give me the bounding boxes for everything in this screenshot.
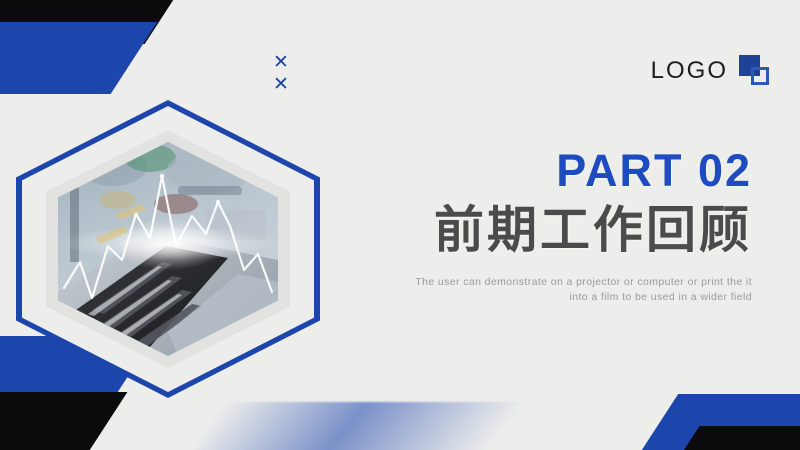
ribbon-top-left-blue xyxy=(0,22,157,94)
logo[interactable]: LOGO xyxy=(651,50,775,92)
hexagon-image-group xyxy=(16,100,320,398)
part-label: PART 02 xyxy=(370,148,752,193)
logo-square-outline xyxy=(751,67,769,85)
presentation-slide: ✕ ✕ LOGO PART 02 前期工作回顾 The user can dem… xyxy=(0,0,800,450)
ribbon-bottom-gradient xyxy=(166,402,526,450)
logo-text: LOGO xyxy=(651,57,728,85)
page-title: 前期工作回顾 xyxy=(370,203,752,257)
subtitle-line-2: into a film to be used in a wider field xyxy=(370,290,752,305)
ribbon-bottom-right-black xyxy=(661,426,800,450)
ribbon-bottom-right-blue xyxy=(642,394,800,450)
subtitle-line-1: The user can demonstrate on a projector … xyxy=(370,275,752,290)
slide-text-block: PART 02 前期工作回顾 The user can demonstrate … xyxy=(370,148,752,305)
ribbon-bottom-left-black xyxy=(0,392,127,450)
cross-marks-icon: ✕ ✕ xyxy=(273,52,325,74)
two-squares-icon xyxy=(739,53,775,89)
ribbon-top-left-black xyxy=(0,0,195,44)
